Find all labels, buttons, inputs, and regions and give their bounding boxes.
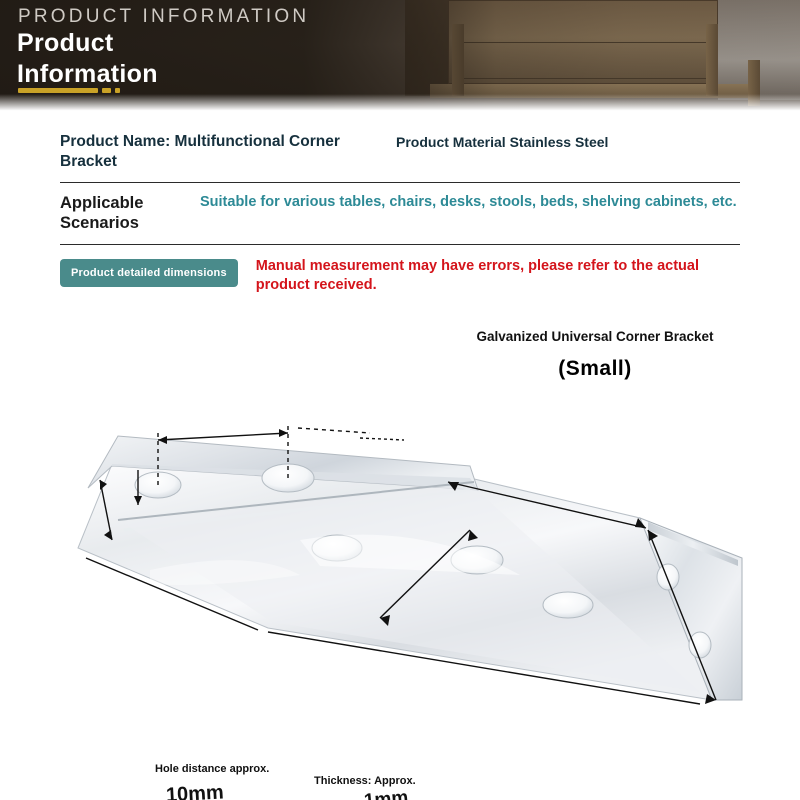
bracket-hole-plate-3: [543, 592, 593, 618]
page-title-line1: Product: [17, 28, 158, 59]
product-diagram: Hole distance approx. 10mm Thickness: Ap…: [0, 370, 800, 770]
header-kicker: PRODUCT INFORMATION: [18, 6, 309, 28]
hole-distance-value: 10mm: [165, 782, 224, 800]
spec-row-product: Product Name: Multifunctional Corner Bra…: [0, 118, 800, 182]
hole-distance-label: Hole distance approx.: [155, 763, 269, 776]
product-information-page: PRODUCT INFORMATION Product Information …: [0, 0, 800, 800]
product-name-value: Product Name: Multifunctional Corner Bra…: [60, 132, 396, 172]
dimensions-badge[interactable]: Product detailed dimensions: [60, 259, 238, 287]
thickness-label: Thickness: Approx.: [314, 775, 416, 788]
scenarios-label: Applicable Scenarios: [60, 193, 200, 233]
spec-table: Product Name: Multifunctional Corner Bra…: [0, 118, 800, 295]
thickness-value: 1mm: [363, 787, 409, 800]
accent-dot: [115, 88, 120, 93]
disclaimer-text: Manual measurement may have errors, plea…: [256, 257, 740, 295]
product-material-value: Product Material Stainless Steel: [396, 132, 608, 150]
bracket-illustration: [0, 370, 800, 770]
spec-row-scenarios: Applicable Scenarios Suitable for variou…: [0, 183, 800, 244]
page-title-line2: Information: [17, 59, 158, 90]
scenarios-value: Suitable for various tables, chairs, des…: [200, 193, 737, 213]
scenarios-label-line1: Applicable: [60, 193, 200, 213]
header-accent-rule: [18, 88, 120, 93]
header-fade: [0, 94, 800, 112]
scenarios-label-line2: Scenarios: [60, 213, 200, 233]
bracket-hole-flange-1: [657, 564, 679, 590]
accent-dash: [102, 88, 111, 93]
spec-row-disclaimer: Product detailed dimensions Manual measu…: [0, 245, 800, 295]
accent-bar: [18, 88, 98, 93]
page-title: Product Information: [17, 28, 158, 89]
bracket-hole-flange-2: [689, 632, 711, 658]
product-heading-title: Galvanized Universal Corner Bracket: [430, 328, 760, 346]
page-header: PRODUCT INFORMATION Product Information: [0, 0, 800, 112]
